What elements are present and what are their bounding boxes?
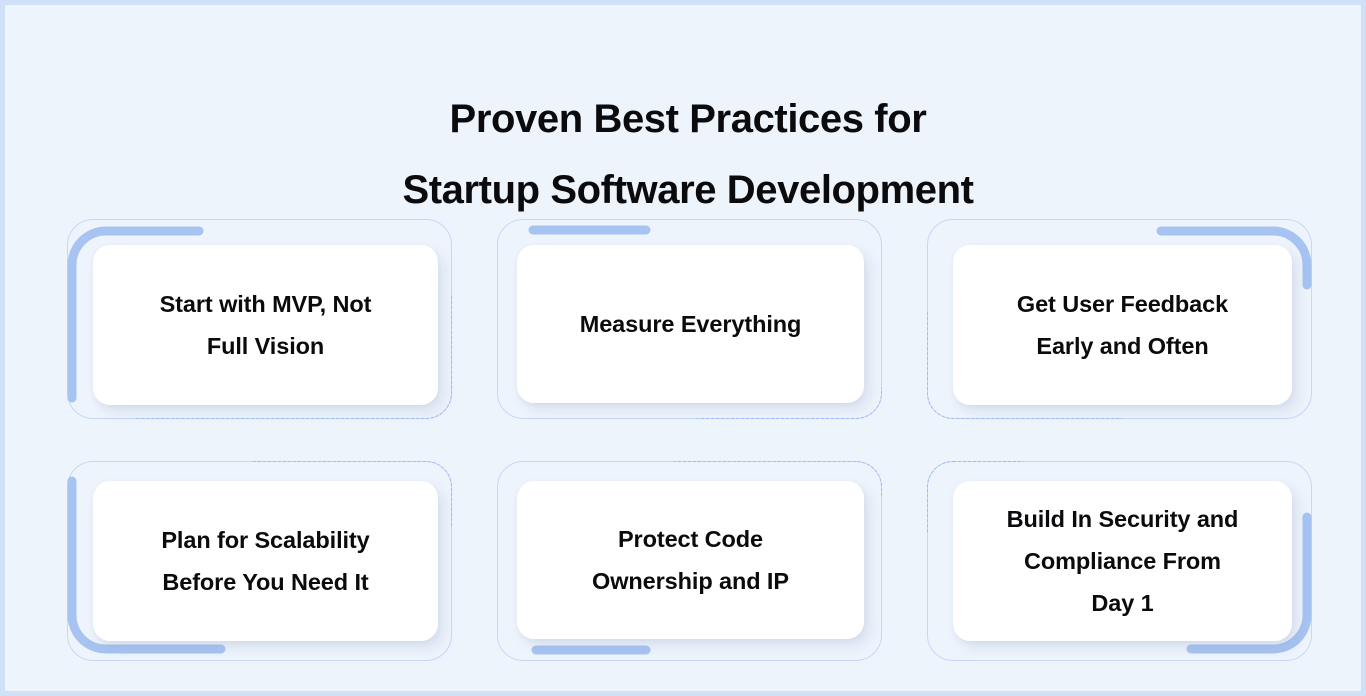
card-title-line-2: Full Vision (207, 333, 324, 359)
card-title-line-1: Build In Security and (1007, 506, 1239, 532)
card-title: Get User Feedback Early and Often (1017, 283, 1228, 367)
card-panel: Start with MVP, Not Full Vision (93, 245, 438, 405)
card-title-line-1: Measure Everything (580, 311, 802, 337)
page-title-line-1: Proven Best Practices for (5, 84, 1366, 155)
card-title: Protect Code Ownership and IP (592, 518, 789, 602)
card-title-line-2: Early and Often (1036, 333, 1208, 359)
card-title-line-2: Compliance From (1024, 548, 1221, 574)
card-panel: Get User Feedback Early and Often (953, 245, 1292, 405)
card-start-with-mvp[interactable]: Start with MVP, Not Full Vision (67, 219, 452, 419)
best-practices-grid: Start with MVP, Not Full Vision Measure … (67, 219, 1312, 661)
infographic-poster: Proven Best Practices for Startup Softwa… (0, 0, 1366, 696)
card-panel: Protect Code Ownership and IP (517, 481, 864, 639)
card-title-line-2: Ownership and IP (592, 568, 789, 594)
card-title: Start with MVP, Not Full Vision (160, 283, 372, 367)
page-title: Proven Best Practices for Startup Softwa… (5, 84, 1366, 226)
card-title-line-1: Start with MVP, Not (160, 291, 372, 317)
card-title-line-1: Plan for Scalability (161, 527, 369, 553)
card-plan-for-scalability[interactable]: Plan for Scalability Before You Need It (67, 461, 452, 661)
card-title-line-1: Get User Feedback (1017, 291, 1228, 317)
card-panel: Build In Security and Compliance From Da… (953, 481, 1292, 641)
card-title: Measure Everything (580, 303, 802, 345)
card-panel: Measure Everything (517, 245, 864, 403)
card-title: Build In Security and Compliance From Da… (1007, 498, 1239, 624)
card-title-line-1: Protect Code (618, 526, 763, 552)
card-protect-code-ownership[interactable]: Protect Code Ownership and IP (497, 461, 882, 661)
page-title-line-2: Startup Software Development (5, 155, 1366, 226)
card-panel: Plan for Scalability Before You Need It (93, 481, 438, 641)
card-title: Plan for Scalability Before You Need It (161, 519, 369, 603)
card-build-in-security[interactable]: Build In Security and Compliance From Da… (927, 461, 1312, 661)
card-measure-everything[interactable]: Measure Everything (497, 219, 882, 419)
card-get-user-feedback[interactable]: Get User Feedback Early and Often (927, 219, 1312, 419)
card-title-line-2: Before You Need It (162, 569, 368, 595)
card-title-line-3: Day 1 (1091, 590, 1153, 616)
